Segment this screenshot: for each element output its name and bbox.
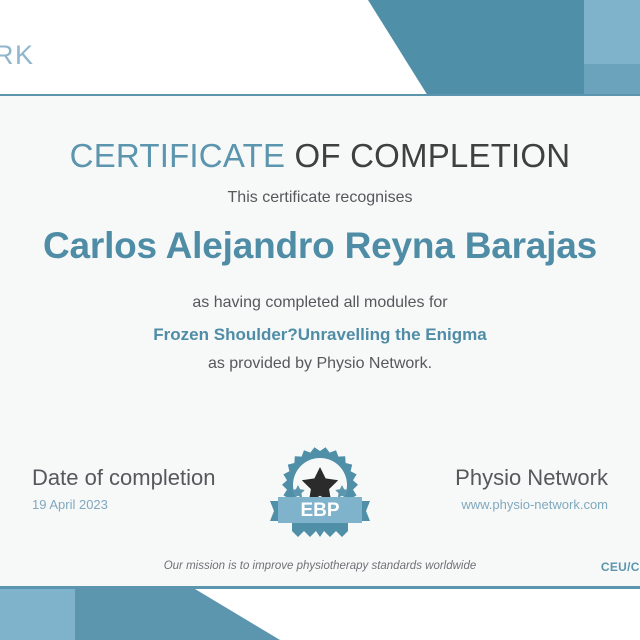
page-title: CERTIFICATE OF COMPLETION [0, 137, 640, 175]
provider-statement: as provided by Physio Network. [0, 355, 640, 373]
certificate-header: RK [0, 0, 640, 96]
ebp-accreditation-seal: EBP [268, 445, 372, 555]
completion-date-block: Date of completion 19 April 2023 [32, 465, 215, 512]
ceu-badge-label: CEU/CP [601, 560, 640, 574]
header-divider [0, 94, 640, 96]
seal-ribbon-fringe [292, 523, 348, 537]
mission-statement: Our mission is to improve physiotherapy … [0, 560, 640, 572]
organisation-block: Physio Network www.physio-network.com [455, 465, 608, 512]
course-title: Frozen Shoulder?Unravelling the Enigma [0, 325, 640, 345]
completion-statement: as having completed all modules for [0, 294, 640, 312]
certificate-footer-bar [0, 586, 640, 640]
seal-ribbon-text: EBP [300, 500, 339, 521]
brand-wordmark: RK [0, 40, 35, 71]
organisation-name: Physio Network [455, 465, 608, 491]
recipient-name: Carlos Alejandro Reyna Barajas [0, 225, 640, 267]
organisation-website[interactable]: www.physio-network.com [455, 497, 608, 512]
date-label: Date of completion [32, 465, 215, 491]
date-value: 19 April 2023 [32, 497, 215, 512]
certificate-subtitle: This certificate recognises [0, 189, 640, 207]
certificate-document: RK CERTIFICATE OF COMPLETION This certif… [0, 0, 640, 640]
certificate-body: CERTIFICATE OF COMPLETION This certifica… [0, 97, 640, 586]
header-shape-light [560, 0, 640, 96]
footer-shape-light [0, 589, 75, 640]
page-title-rest: OF COMPLETION [285, 137, 570, 174]
page-title-accent: CERTIFICATE [70, 137, 286, 174]
footer-diagonal-shape-dark [75, 589, 280, 640]
